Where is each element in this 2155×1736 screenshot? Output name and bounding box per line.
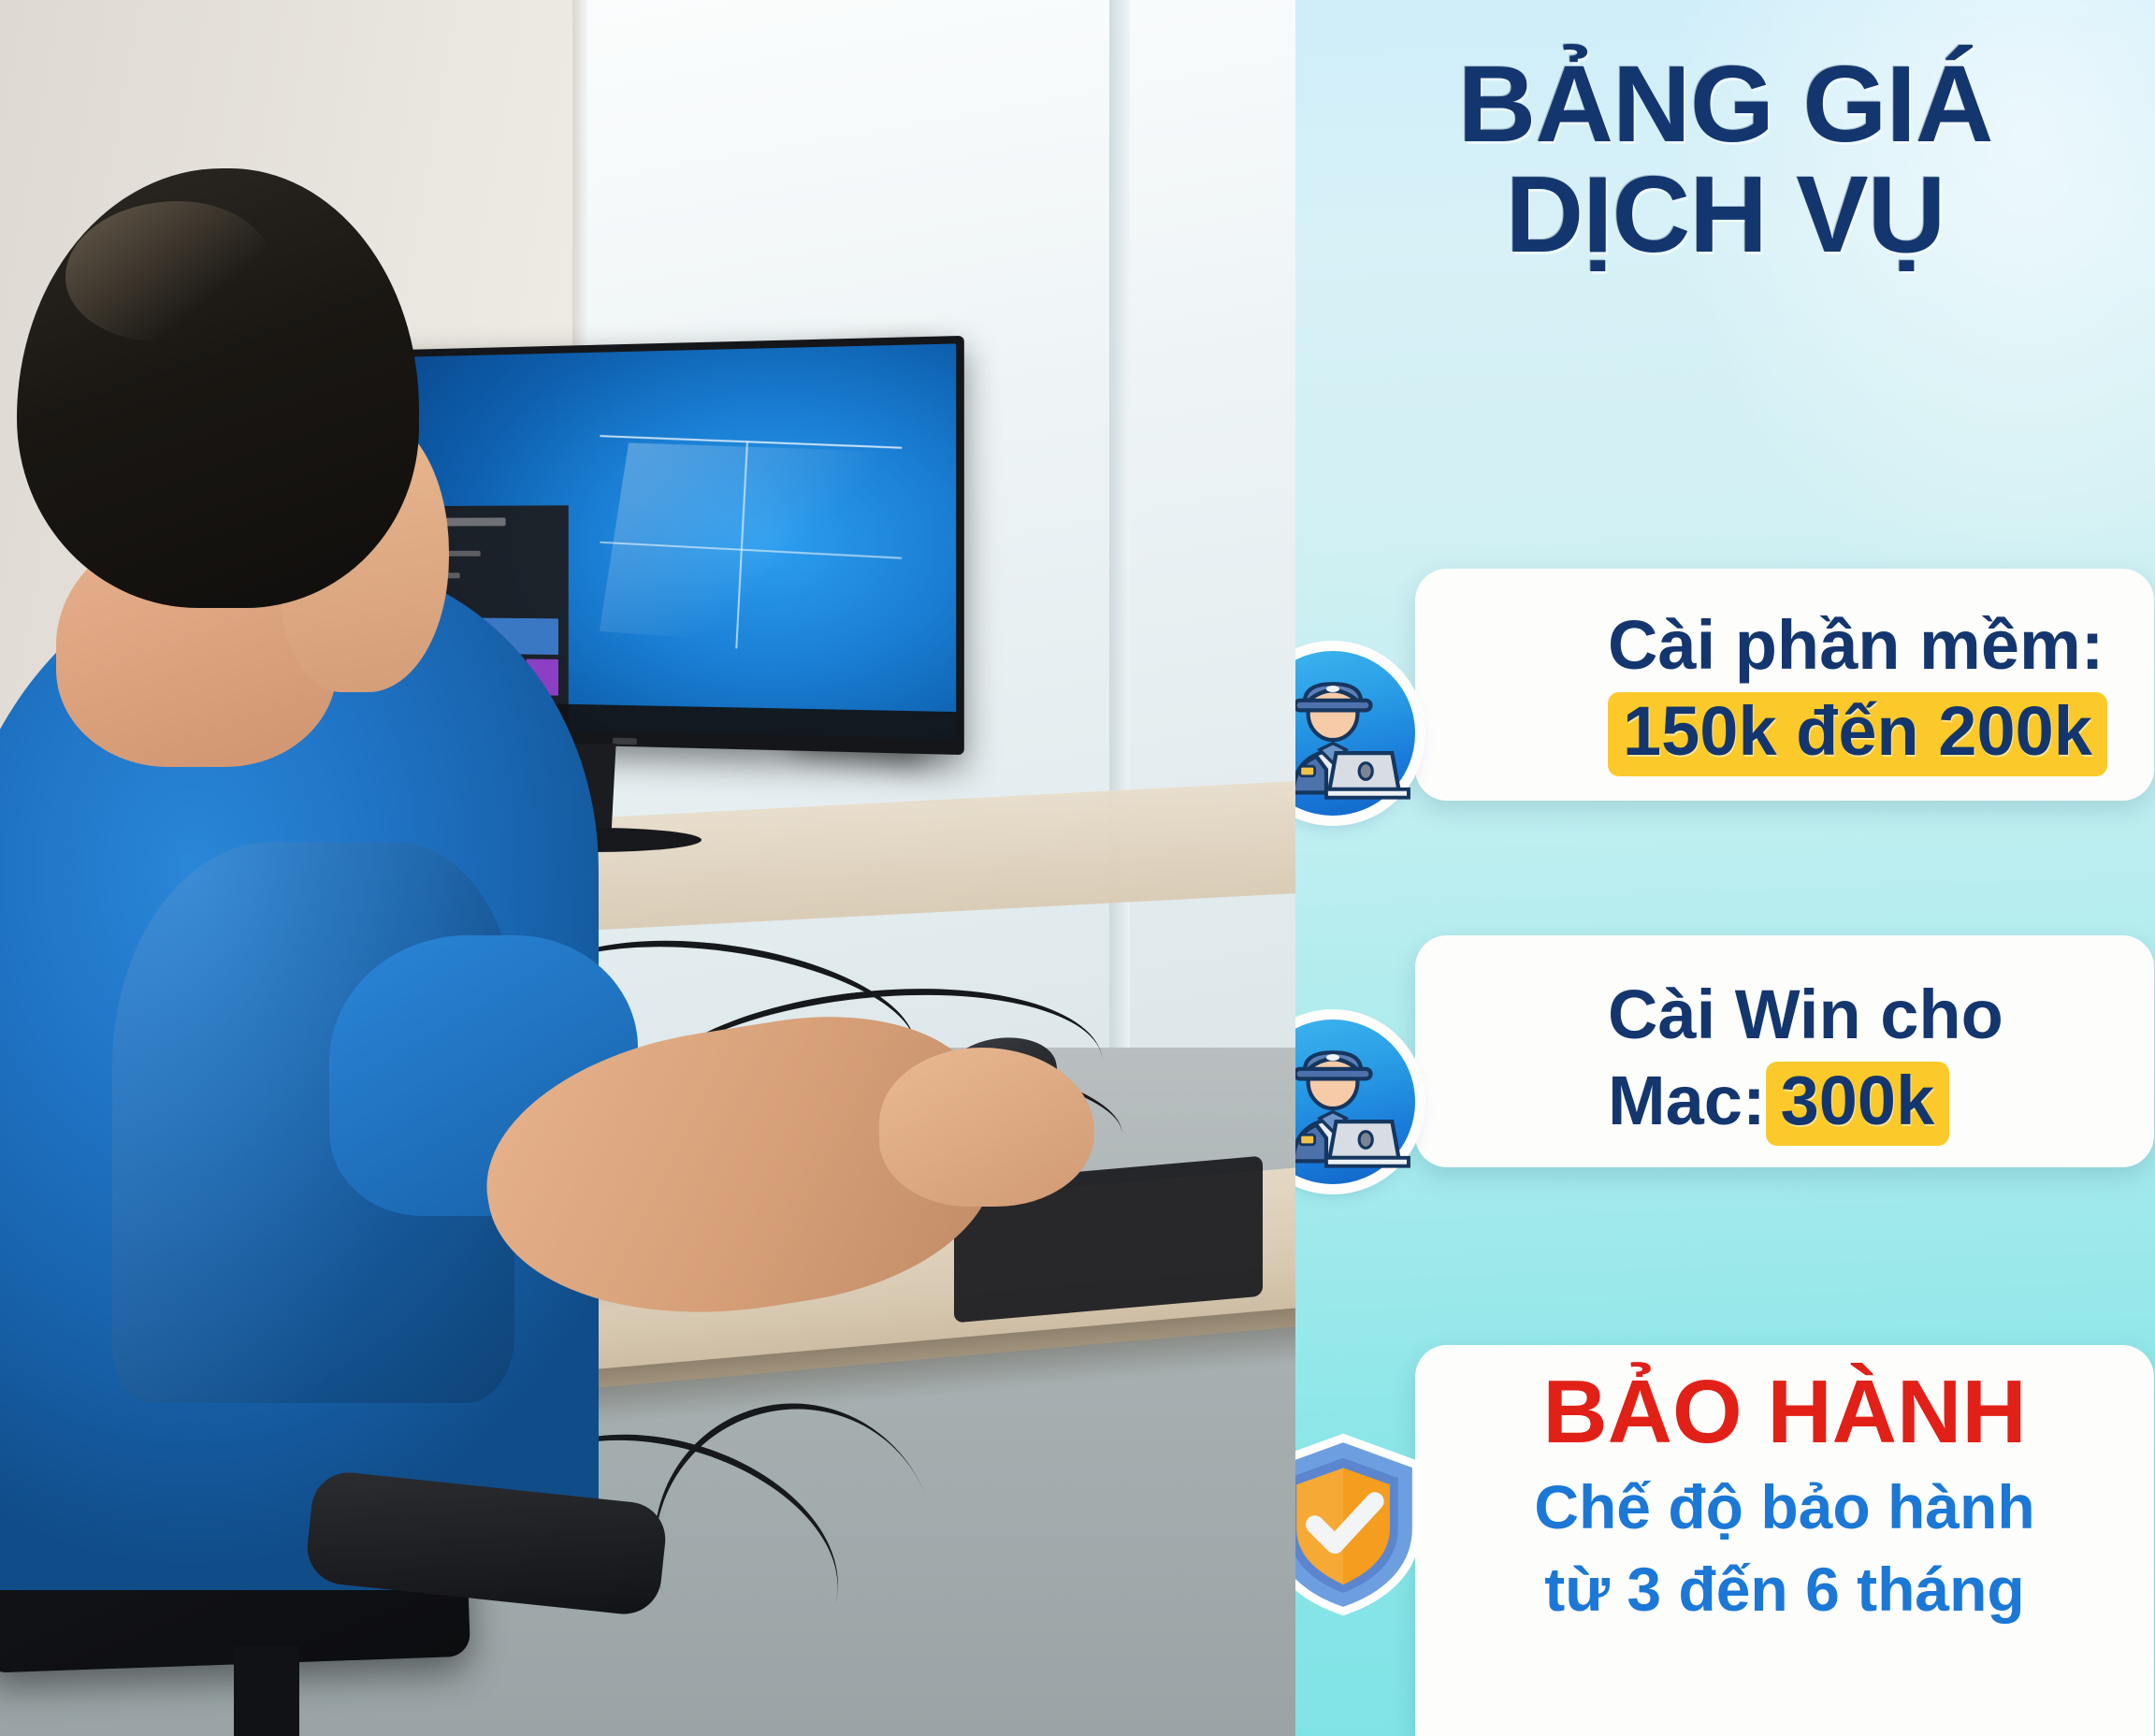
price-panel: BẢNG GIÁ DỊCH VỤ: [1295, 0, 2155, 1736]
monitor-brand-logo: [613, 738, 637, 745]
price-list-poster: BẢNG GIÁ DỊCH VỤ: [0, 0, 2155, 1736]
warranty-text: BẢO HÀNH Chế độ bảo hành từ 3 đến 6 thán…: [1415, 1366, 2154, 1626]
card1-text: Cài phần mềm: 150k đến 200k: [1608, 608, 2107, 776]
warranty-sub-line1: Chế độ bảo hành: [1415, 1471, 2154, 1543]
shield-check-icon: [1295, 1431, 1426, 1618]
card2-text: Cài Win cho Mac:300k: [1608, 977, 2003, 1146]
card1-label: Cài phần mềm:: [1608, 608, 2107, 683]
card1-price: 150k đến 200k: [1608, 692, 2107, 776]
card2-label-line2: Mac:: [1608, 1062, 1766, 1139]
card2-label-line1: Cài Win cho: [1608, 977, 2003, 1052]
page-title: BẢNG GIÁ DỊCH VỤ: [1295, 49, 2155, 270]
title-line-2: DỊCH VỤ: [1295, 159, 2155, 269]
technician-laptop-icon: [1295, 651, 1415, 816]
technician-at-desktop-photo: [0, 0, 1295, 1736]
chair-post: [234, 1646, 299, 1736]
technician-laptop-icon: [1295, 1020, 1415, 1184]
warranty-heading: BẢO HÀNH: [1415, 1366, 2154, 1460]
title-line-1: BẢNG GIÁ: [1295, 49, 2155, 159]
card2-price: 300k: [1766, 1062, 1950, 1146]
warranty-sub-line2: từ 3 đến 6 tháng: [1415, 1554, 2154, 1626]
